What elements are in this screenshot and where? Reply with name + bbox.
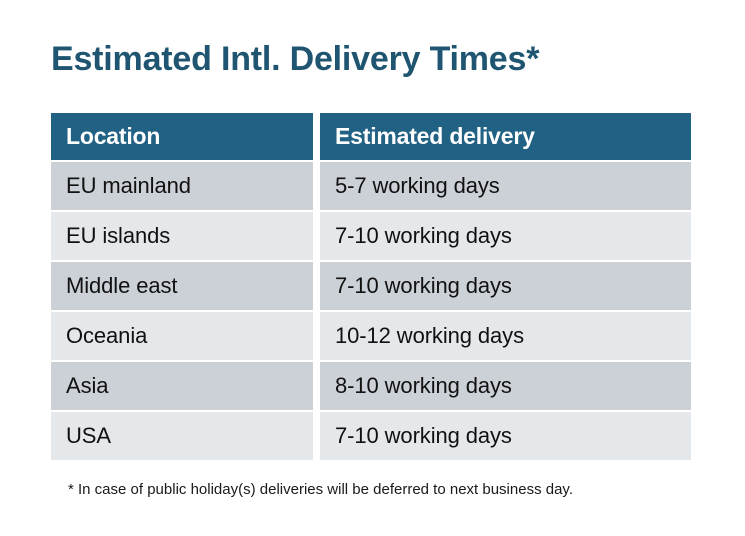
- cell-location: Asia: [51, 362, 313, 410]
- delivery-times-page: Estimated Intl. Delivery Times* Location…: [0, 0, 745, 536]
- column-header-location: Location: [51, 113, 313, 160]
- cell-location: Oceania: [51, 312, 313, 360]
- cell-delivery: 7-10 working days: [320, 412, 691, 460]
- table-row: Asia 8-10 working days: [51, 362, 691, 410]
- column-divider: [313, 412, 320, 460]
- column-divider: [313, 162, 320, 210]
- table-row: USA 7-10 working days: [51, 412, 691, 460]
- table-row: Oceania 10-12 working days: [51, 312, 691, 360]
- cell-delivery: 7-10 working days: [320, 212, 691, 260]
- cell-location: EU mainland: [51, 162, 313, 210]
- delivery-times-table: Location Estimated delivery EU mainland …: [51, 113, 691, 462]
- cell-delivery: 8-10 working days: [320, 362, 691, 410]
- page-title: Estimated Intl. Delivery Times*: [51, 38, 539, 80]
- column-divider: [313, 312, 320, 360]
- column-header-estimated-delivery: Estimated delivery: [320, 113, 691, 160]
- table-row: EU islands 7-10 working days: [51, 212, 691, 260]
- cell-delivery: 7-10 working days: [320, 262, 691, 310]
- cell-location: USA: [51, 412, 313, 460]
- table-row: EU mainland 5-7 working days: [51, 162, 691, 210]
- column-divider: [313, 362, 320, 410]
- table-row: Middle east 7-10 working days: [51, 262, 691, 310]
- column-divider: [313, 113, 320, 160]
- cell-location: Middle east: [51, 262, 313, 310]
- table-header-row: Location Estimated delivery: [51, 113, 691, 160]
- cell-location: EU islands: [51, 212, 313, 260]
- cell-delivery: 10-12 working days: [320, 312, 691, 360]
- footnote-text: * In case of public holiday(s) deliverie…: [68, 480, 573, 500]
- cell-delivery: 5-7 working days: [320, 162, 691, 210]
- column-divider: [313, 212, 320, 260]
- column-divider: [313, 262, 320, 310]
